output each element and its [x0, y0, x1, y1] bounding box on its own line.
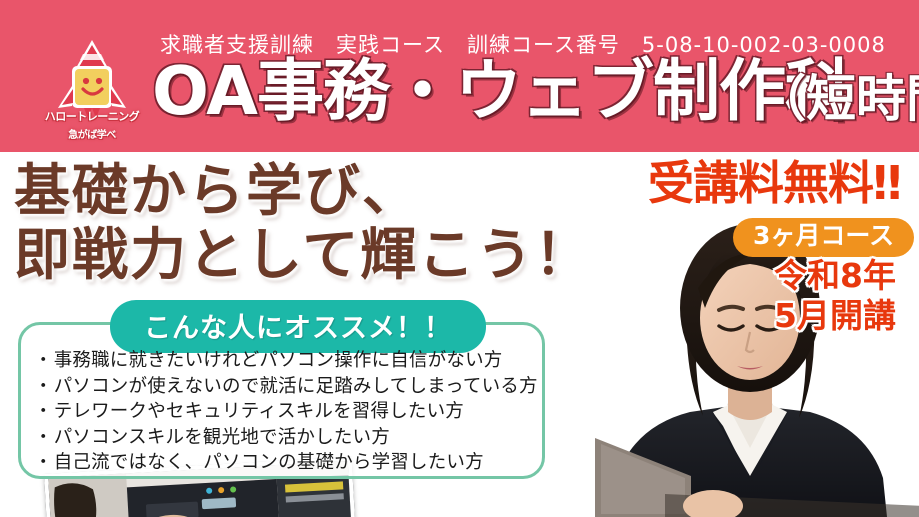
start-month: 5月開講	[760, 296, 910, 336]
list-item: 自己流ではなく、パソコンの基礎から学習したい方	[34, 450, 544, 476]
headline-line-1: 基礎から学び、	[14, 160, 614, 224]
logo-caption: ハロートレーニング 急がば学べ	[28, 108, 156, 141]
course-length-badge: 3ヶ月コース	[733, 218, 914, 257]
logo-name: ハロートレーニング	[45, 110, 140, 123]
start-year: 令和8年	[760, 256, 910, 296]
headline-line-2: 即戦力として輝こう！	[14, 224, 614, 288]
course-title: OA事務・ウェブ制作科	[152, 58, 851, 125]
header-bar: ハロートレーニング 急がば学べ 求職者支援訓練 実践コース 訓練コース番号 5-…	[0, 0, 919, 152]
hello-training-logo: ハロートレーニング 急がば学べ	[28, 34, 156, 146]
logo-tagline: 急がば学べ	[28, 126, 156, 141]
recommend-list: 事務職に就きたいけれどパソコン操作に自信がない方 パソコンが使えないので就活に足…	[34, 348, 544, 476]
course-promo-banner: ハロートレーニング 急がば学べ 求職者支援訓練 実践コース 訓練コース番号 5-…	[0, 0, 919, 517]
course-title-suffix: （短時間）08	[756, 74, 919, 124]
suffix-text: （短時間）	[756, 70, 919, 128]
start-date-badge: 令和8年 5月開講	[760, 256, 910, 336]
free-tuition-badge: 受講料無料‼	[648, 160, 901, 206]
headline: 基礎から学び、 即戦力として輝こう！	[14, 160, 614, 289]
list-item: テレワークやセキュリティスキルを習得したい方	[34, 399, 544, 425]
list-item: 事務職に就きたいけれどパソコン操作に自信がない方	[34, 348, 544, 374]
list-item: パソコンが使えないので就活に足踏みしてしまっている方	[34, 374, 544, 400]
list-item: パソコンスキルを観光地で活かしたい方	[34, 425, 544, 451]
recommend-pill-label: こんな人にオススメ！！	[110, 300, 486, 353]
